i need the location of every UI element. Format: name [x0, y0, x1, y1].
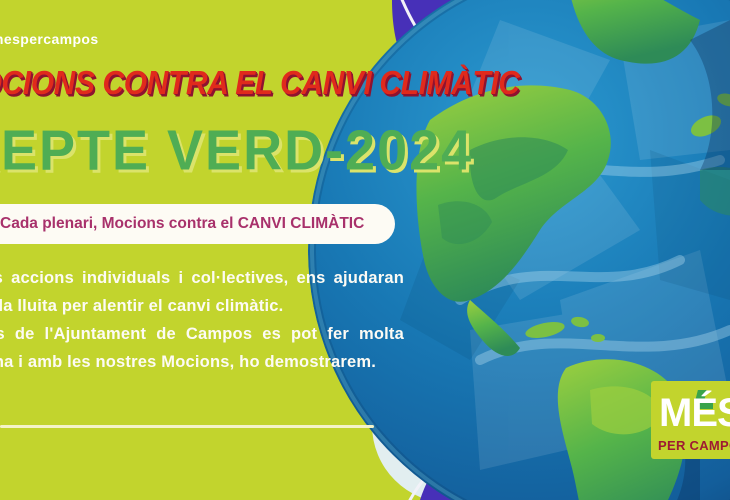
purple-blob-bottom-line [410, 408, 620, 500]
account-handle: @mespercampos [0, 31, 99, 47]
tagline-banner: Cada plenari, Mocions contra el CANVI CL… [0, 204, 395, 244]
logo-mes-per-campos: MÉS PER CAMPOS [651, 381, 730, 459]
body-paragraph-2: Des de l'Ajuntament de Campos es pot fer… [0, 320, 404, 376]
divider-rule [0, 425, 374, 428]
tagline-text: Cada plenari, Mocions contra el CANVI CL… [0, 215, 364, 233]
landmass-greenland [565, 0, 700, 64]
headline: MOCIONS CONTRA EL CANVI CLIMÀTIC [0, 65, 520, 103]
landmass-europe-islands [688, 91, 730, 141]
landmass-central-america [467, 300, 520, 356]
landmass-caribbean-islands [524, 316, 605, 342]
logo-secondary-text: PER CAMPOS [658, 438, 730, 453]
logo-primary-text: MÉS [659, 393, 730, 433]
poster-canvas: @mespercampos MOCIONS CONTRA EL CANVI CL… [0, 0, 730, 500]
page-title: REPTE VERD-2024 [0, 118, 473, 183]
body-paragraph-1: Les accions individuals i col·lectives, … [0, 264, 404, 320]
body-copy: Les accions individuals i col·lectives, … [0, 264, 404, 376]
